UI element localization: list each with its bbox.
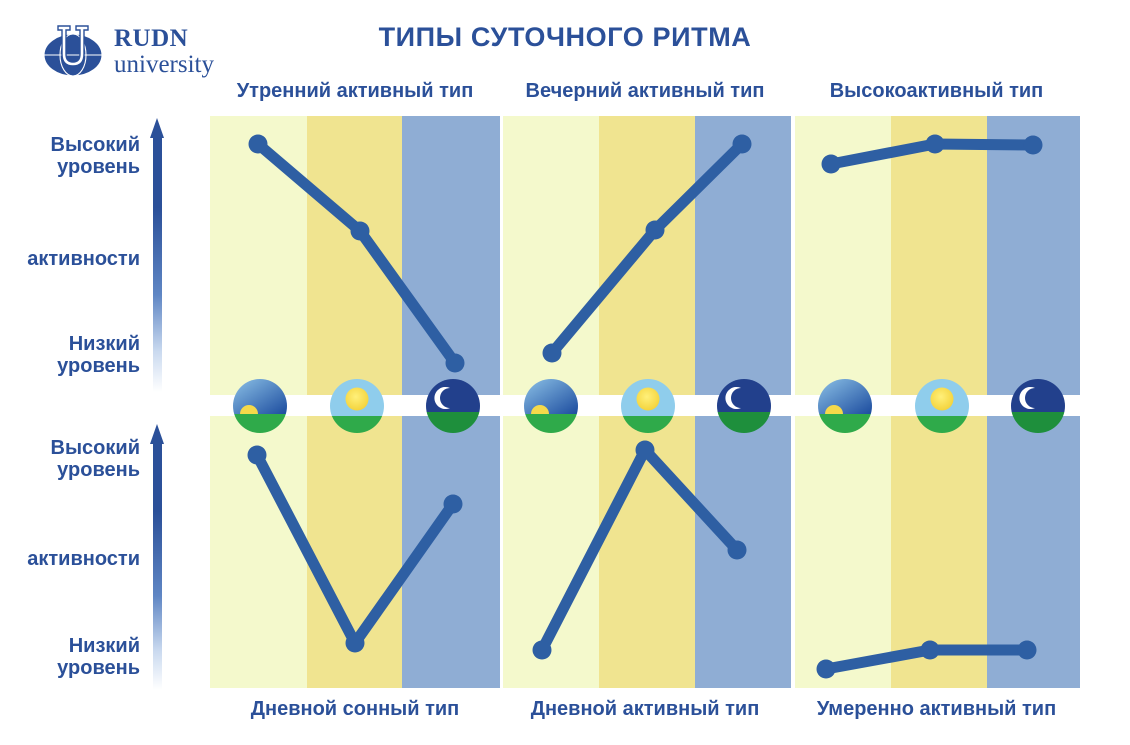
brand-name-line2: university bbox=[114, 52, 214, 77]
axis-arrow-head-icon bbox=[150, 118, 164, 138]
crescent-moon-icon bbox=[1010, 378, 1066, 434]
sunrise-icon bbox=[817, 378, 873, 434]
sunrise-icon bbox=[523, 378, 579, 434]
panel-caption-highly-active: Высокоактивный тип bbox=[793, 80, 1080, 103]
axis-label-bottom-high: Высокий уровень bbox=[0, 437, 140, 482]
midday-sun-icon bbox=[620, 378, 676, 434]
chart-plot-area bbox=[210, 116, 1080, 688]
axis-label-bottom-low: Низкий уровень bbox=[0, 635, 140, 680]
panel-caption-morning-active: Утренний активный тип bbox=[210, 80, 500, 103]
crescent-moon-icon bbox=[716, 378, 772, 434]
activity-axis-top bbox=[150, 118, 164, 392]
sunrise-icon bbox=[232, 378, 288, 434]
panel-caption-daytime-active: Дневной активный тип bbox=[500, 698, 790, 721]
page-title: ТИПЫ СУТОЧНОГО РИТМА bbox=[0, 22, 1130, 53]
panel-caption-evening-active: Вечерний активный тип bbox=[500, 80, 790, 103]
infographic-canvas: RUDN university ТИПЫ СУТОЧНОГО РИТМА Утр… bbox=[0, 0, 1130, 745]
axis-shaft bbox=[153, 136, 162, 392]
activity-axis-bottom bbox=[150, 424, 164, 690]
midday-sun-icon bbox=[329, 378, 385, 434]
midday-sun-icon bbox=[914, 378, 970, 434]
crescent-moon-icon bbox=[425, 378, 481, 434]
axis-arrow-head-icon bbox=[150, 424, 164, 444]
time-of-day-icon-row bbox=[210, 116, 1080, 688]
panel-caption-daytime-sleepy: Дневной сонный тип bbox=[210, 698, 500, 721]
axis-label-bottom-mid: активности bbox=[0, 548, 140, 570]
panel-caption-moderately-active: Умеренно активный тип bbox=[793, 698, 1080, 721]
axis-label-top-mid: активности bbox=[0, 248, 140, 270]
axis-label-top-low: Низкий уровень bbox=[0, 333, 140, 378]
axis-label-top-high: Высокий уровень bbox=[0, 134, 140, 179]
axis-shaft bbox=[153, 442, 162, 690]
